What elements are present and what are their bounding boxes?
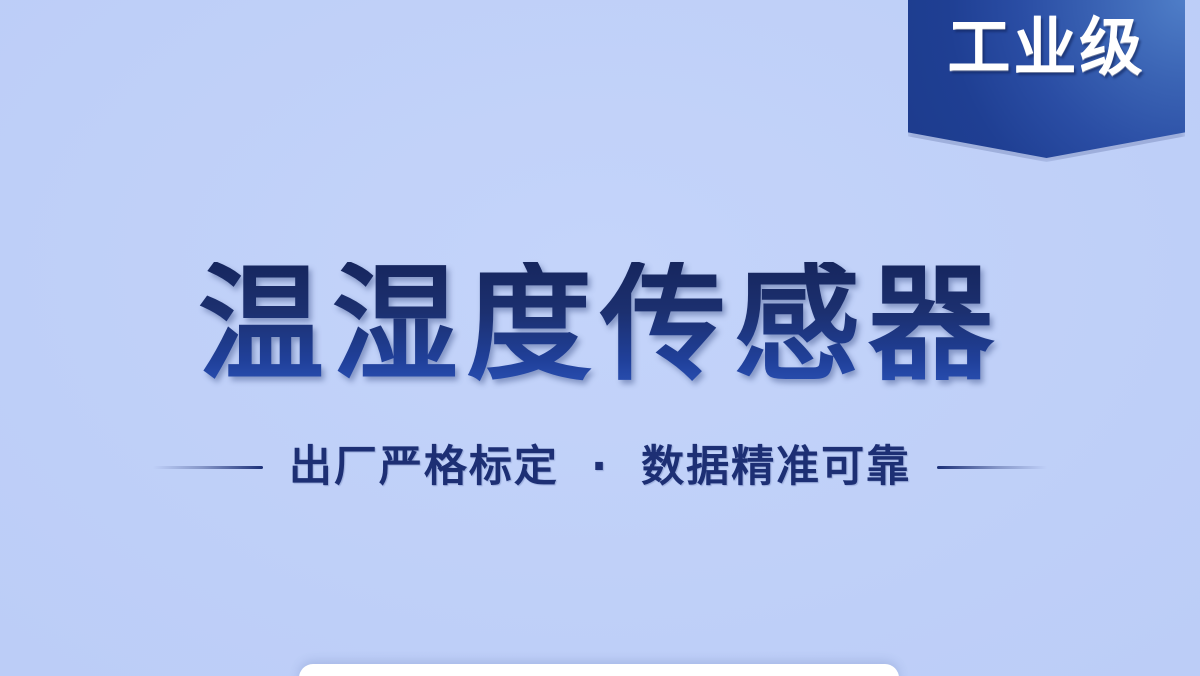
subheadline-separator: ·: [585, 444, 615, 491]
rule-left-decoration: [153, 466, 263, 469]
rule-right-decoration: [937, 466, 1047, 469]
bottom-card-peek: [299, 664, 899, 676]
subheadline-left-text: 出厂严格标定: [289, 444, 559, 491]
page-title: 温湿度传感器: [192, 262, 1008, 388]
headline-container: 温湿度传感器: [0, 262, 1200, 388]
grade-badge-label: 工业级: [948, 16, 1146, 80]
grade-badge: 工业级: [908, 0, 1185, 158]
subheadline-container: 出厂严格标定 · 数据精准可靠: [0, 444, 1200, 491]
subheadline-right-text: 数据精准可靠: [641, 444, 911, 491]
product-banner: 工业级 温湿度传感器 出厂严格标定 · 数据精准可靠: [0, 0, 1200, 676]
